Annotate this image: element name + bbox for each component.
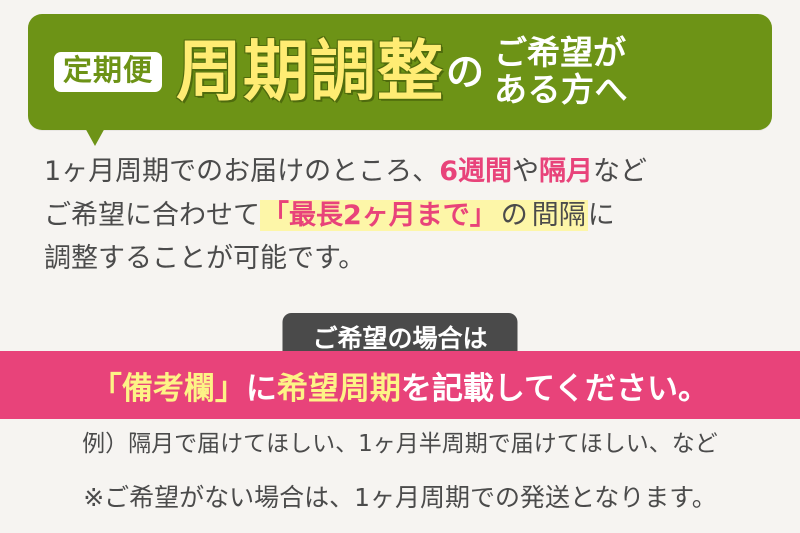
banner-headline-particle: の [446, 53, 484, 91]
instruction-desired-cycle: 希望周期 [277, 371, 401, 407]
description-line-1-part-c: や [512, 156, 539, 187]
instruction-text-part-d: を記載してください。 [401, 371, 709, 407]
description-highlight-6weeks: 6週間 [439, 156, 512, 187]
subscription-badge: 定期便 [54, 52, 162, 91]
description-line-1-part-a: 1ヶ月周期でのお届けのところ、 [44, 156, 439, 187]
instruction-text: 「備考欄」に希望周期を記載してください。 [91, 363, 709, 408]
description-block: 1ヶ月周期でのお届けのところ、6週間や隔月など ご希望に合わせて「最長2ヶ月まで… [44, 150, 764, 281]
instruction-remarks-field: 「備考欄」 [91, 371, 246, 407]
banner-subheadline-line1: ご希望が [494, 35, 628, 72]
note-text: ※ご希望がない場合は、1ヶ月周期での発送となります。 [0, 478, 800, 514]
banner-content: 定期便 周期調整 の ご希望が ある方へ [28, 14, 772, 130]
description-highlight-max2months: 「最長2ヶ月まで」 [260, 200, 499, 231]
banner-subheadline-line2: ある方へ [494, 72, 628, 109]
description-line-2-part-a: ご希望に合わせて [44, 200, 260, 231]
description-line-1: 1ヶ月周期でのお届けのところ、6週間や隔月など [44, 150, 764, 194]
description-highlight-interval: 間隔 [530, 200, 588, 231]
description-line-3: 調整することが可能です。 [44, 237, 764, 281]
banner-subheadline: ご希望が ある方へ [494, 35, 628, 109]
header-banner: 定期便 周期調整 の ご希望が ある方へ [28, 14, 772, 130]
description-highlight-bimonthly: 隔月 [539, 156, 593, 187]
description-line-2: ご希望に合わせて「最長2ヶ月まで」の間隔に [44, 194, 764, 238]
description-line-1-part-e: など [593, 156, 647, 187]
banner-headline: 周期調整 [176, 39, 444, 105]
banner-pointer-tail [84, 126, 106, 146]
description-line-2-part-e: に [588, 200, 615, 231]
instruction-text-part-b: に [246, 371, 277, 407]
example-text: 例）隔月で届けてほしい、1ヶ月半周期で届けてほしい、など [0, 424, 800, 458]
promo-graphic: 定期便 周期調整 の ご希望が ある方へ 1ヶ月周期でのお届けのところ、6週間や… [0, 0, 800, 533]
instruction-band: 「備考欄」に希望周期を記載してください。 [0, 351, 800, 419]
description-line-2-part-c: の [499, 200, 530, 231]
